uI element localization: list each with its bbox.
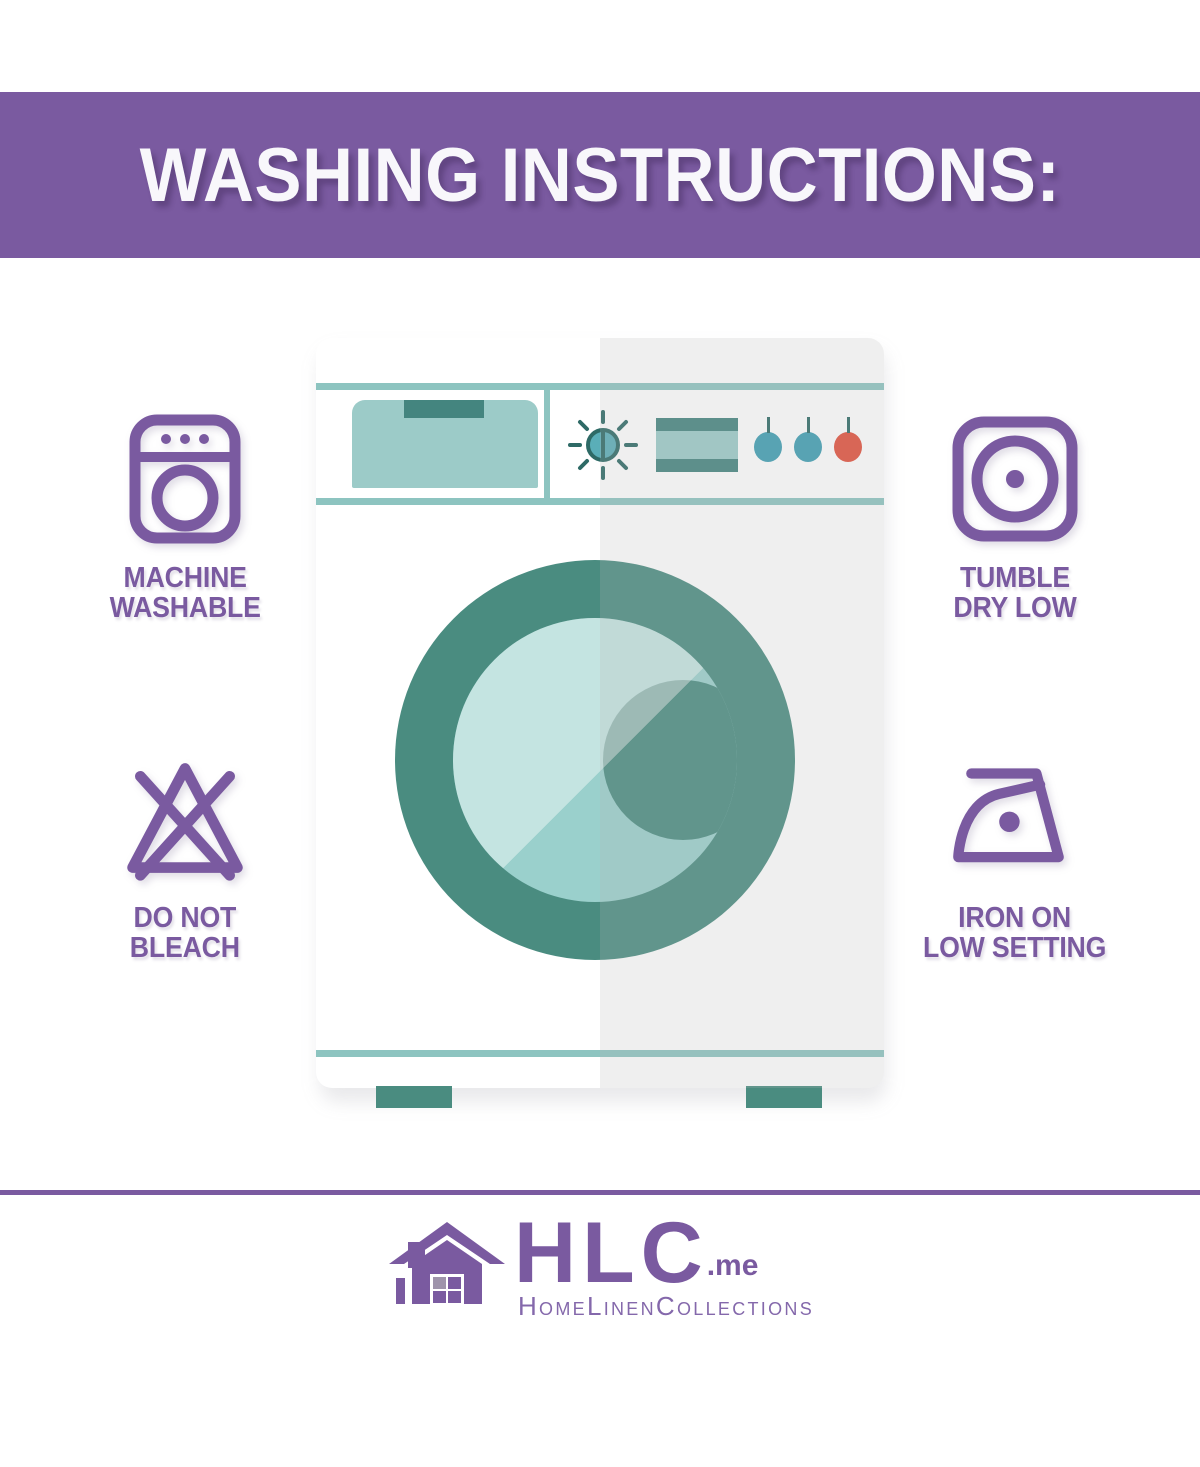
drawer-handle[interactable] [404, 400, 484, 418]
knob-blue-2[interactable] [794, 432, 822, 462]
display-band-bottom [656, 459, 738, 472]
care-symbol-label: MACHINE WASHABLE [109, 564, 260, 623]
infographic-page: WASHING INSTRUCTIONS: MACHINE WASHABLE D… [0, 0, 1200, 1467]
footer-divider [0, 1190, 1200, 1195]
sun-dial-knob[interactable] [568, 410, 638, 480]
machine-body [316, 338, 884, 1088]
tumble-dry-icon [949, 408, 1081, 550]
detergent-drawer[interactable] [352, 400, 538, 488]
foot-left [376, 1086, 452, 1108]
door-glass [453, 618, 737, 902]
base-rule [316, 1050, 884, 1057]
display-band-top [656, 418, 738, 431]
iron-icon [949, 748, 1081, 890]
logo-main-row: HLC .me [514, 1218, 814, 1289]
house-icon [386, 1220, 508, 1311]
control-display [656, 418, 738, 472]
logo-text-block: HLC .me HomeLinenCollections [514, 1218, 814, 1322]
panel-rule-top [316, 383, 884, 390]
logo-wordmark: HLC [514, 1218, 709, 1289]
care-symbol-label: TUMBLE DRY LOW [953, 564, 1076, 623]
care-symbol-label: IRON ON LOW SETTING [923, 904, 1106, 963]
knob-stem [847, 417, 850, 433]
porthole-door[interactable] [395, 560, 795, 960]
care-symbol-tumble-dry-low: TUMBLE DRY LOW [865, 408, 1165, 623]
header-band: WASHING INSTRUCTIONS: [0, 92, 1200, 258]
hlc-logo[interactable]: HLC .me HomeLinenCollections [386, 1218, 814, 1322]
knob-stem [807, 417, 810, 433]
logo-tagline: HomeLinenCollections [518, 1291, 814, 1322]
care-symbol-machine-washable: MACHINE WASHABLE [35, 408, 335, 623]
care-symbol-do-not-bleach: DO NOT BLEACH [35, 748, 335, 963]
washing-machine-illustration [316, 338, 886, 1098]
knob-stem [767, 417, 770, 433]
footer: HLC .me HomeLinenCollections [0, 1218, 1200, 1322]
knob-blue-1[interactable] [754, 432, 782, 462]
foot-right [746, 1086, 822, 1108]
do-not-bleach-triangle-icon [119, 748, 251, 890]
care-symbol-iron-low-setting: IRON ON LOW SETTING [865, 748, 1165, 963]
washing-machine-icon [119, 408, 251, 550]
panel-divider [544, 390, 550, 498]
care-symbol-label: DO NOT BLEACH [130, 904, 240, 963]
door-glass-highlight [453, 618, 737, 902]
page-title: WASHING INSTRUCTIONS: [140, 132, 1061, 219]
logo-domain-suffix: .me [707, 1249, 759, 1283]
panel-rule-bottom [316, 498, 884, 505]
knob-red-3[interactable] [834, 432, 862, 462]
